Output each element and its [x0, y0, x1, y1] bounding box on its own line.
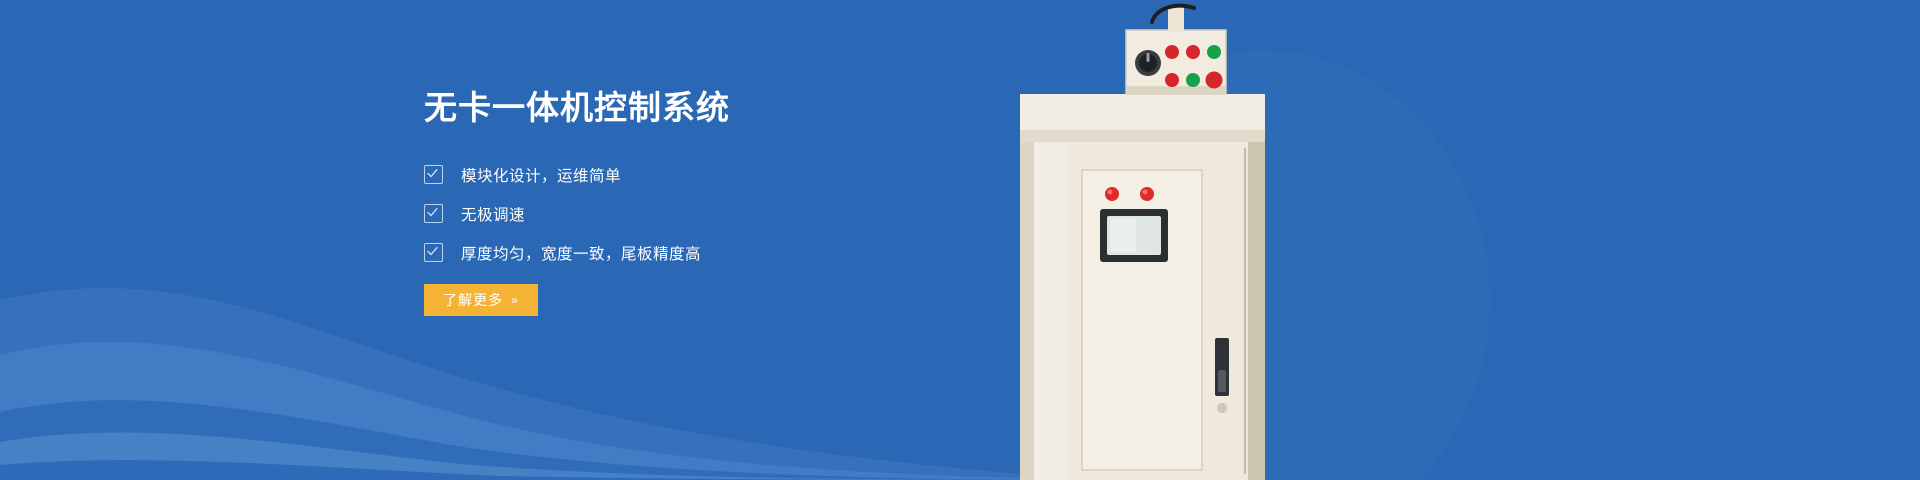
learn-more-button[interactable]: 了解更多 »	[424, 284, 538, 316]
wave-shape-4	[0, 433, 1100, 480]
feature-label: 模块化设计，运维简单	[461, 164, 621, 186]
indicator-lamp-1	[1105, 187, 1119, 201]
pendant-button-red-2	[1186, 45, 1200, 59]
wave-shape-3	[0, 400, 1100, 480]
pendant-button-green-2	[1186, 73, 1200, 87]
page-title: 无卡一体机控制系统	[424, 88, 944, 128]
cabinet-top-cap-shade	[1020, 130, 1265, 142]
feature-label: 无极调速	[461, 203, 525, 225]
pendant-button-red-1	[1165, 45, 1179, 59]
cabinet-highlight	[1034, 142, 1068, 480]
checkbox-check-icon	[424, 243, 443, 262]
list-item: 厚度均匀，宽度一致，尾板精度高	[424, 242, 944, 264]
pendant-button-green-1	[1207, 45, 1221, 59]
cabinet-left-edge	[1020, 142, 1034, 480]
wave-shape-1	[0, 288, 1100, 480]
hero-banner: 无卡一体机控制系统 模块化设计，运维简单 无极调速	[0, 0, 1920, 480]
indicator-lamp-1-highlight	[1108, 190, 1113, 195]
industrial-control-cabinet-photo	[1000, 0, 1920, 480]
feature-list: 模块化设计，运维简单 无极调速 厚度均匀，宽度一致，尾板精度高	[424, 164, 944, 264]
list-item: 模块化设计，运维简单	[424, 164, 944, 186]
feature-label: 厚度均匀，宽度一致，尾板精度高	[461, 242, 701, 264]
cabinet-handle-grip	[1218, 370, 1226, 392]
hmi-screen-glare	[1110, 219, 1136, 252]
indicator-lamp-2-highlight	[1143, 190, 1148, 195]
checkbox-check-icon	[424, 204, 443, 223]
pendant-mast-body	[1168, 6, 1184, 32]
cabinet-door-seam	[1244, 148, 1246, 474]
pendant-button-red-3	[1165, 73, 1179, 87]
cabinet-right-side	[1248, 142, 1265, 480]
indicator-lamp-2	[1140, 187, 1154, 201]
list-item: 无极调速	[424, 203, 944, 225]
learn-more-label: 了解更多	[443, 290, 503, 310]
wave-shape-2	[0, 342, 1100, 480]
selector-knob-pointer	[1147, 53, 1150, 62]
pendant-button-red-4	[1206, 72, 1223, 89]
hero-content: 无卡一体机控制系统 模块化设计，运维简单 无极调速	[424, 88, 944, 316]
checkbox-check-icon	[424, 165, 443, 184]
chevron-right-icon: »	[511, 293, 519, 307]
wave-shape-5	[0, 460, 1100, 480]
cta-wrapper: 了解更多 »	[424, 284, 944, 316]
cabinet-lock	[1217, 403, 1227, 413]
